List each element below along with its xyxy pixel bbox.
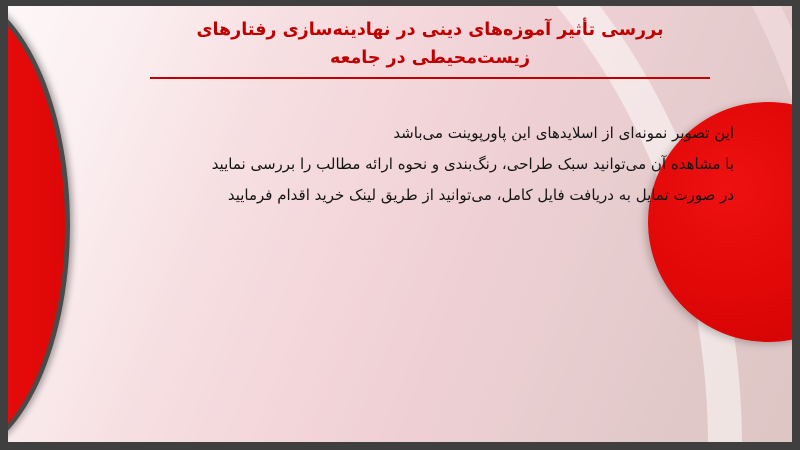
slide-content: بررسی تأثیر آموزه‌های دینی در نهادینه‌سا…: [8, 6, 792, 442]
body-line-2: با مشاهده آن می‌توانید سبک طراحی، رنگ‌بن…: [128, 149, 734, 180]
slide-title-line-1: بررسی تأثیر آموزه‌های دینی در نهادینه‌سا…: [128, 16, 732, 44]
presentation-slide: بررسی تأثیر آموزه‌های دینی در نهادینه‌سا…: [0, 0, 800, 450]
slide-canvas: بررسی تأثیر آموزه‌های دینی در نهادینه‌سا…: [8, 6, 792, 442]
body-line-3: در صورت تمایل به دریافت فایل کامل، می‌تو…: [128, 180, 734, 211]
slide-title: بررسی تأثیر آموزه‌های دینی در نهادینه‌سا…: [128, 16, 732, 79]
title-underline-rule: [150, 77, 710, 79]
body-line-1: این تصویر نمونه‌ای از اسلایدهای این پاور…: [128, 118, 734, 149]
slide-title-line-2: زیست‌محیطی در جامعه: [128, 44, 732, 72]
slide-body-text: این تصویر نمونه‌ای از اسلایدهای این پاور…: [128, 118, 734, 211]
